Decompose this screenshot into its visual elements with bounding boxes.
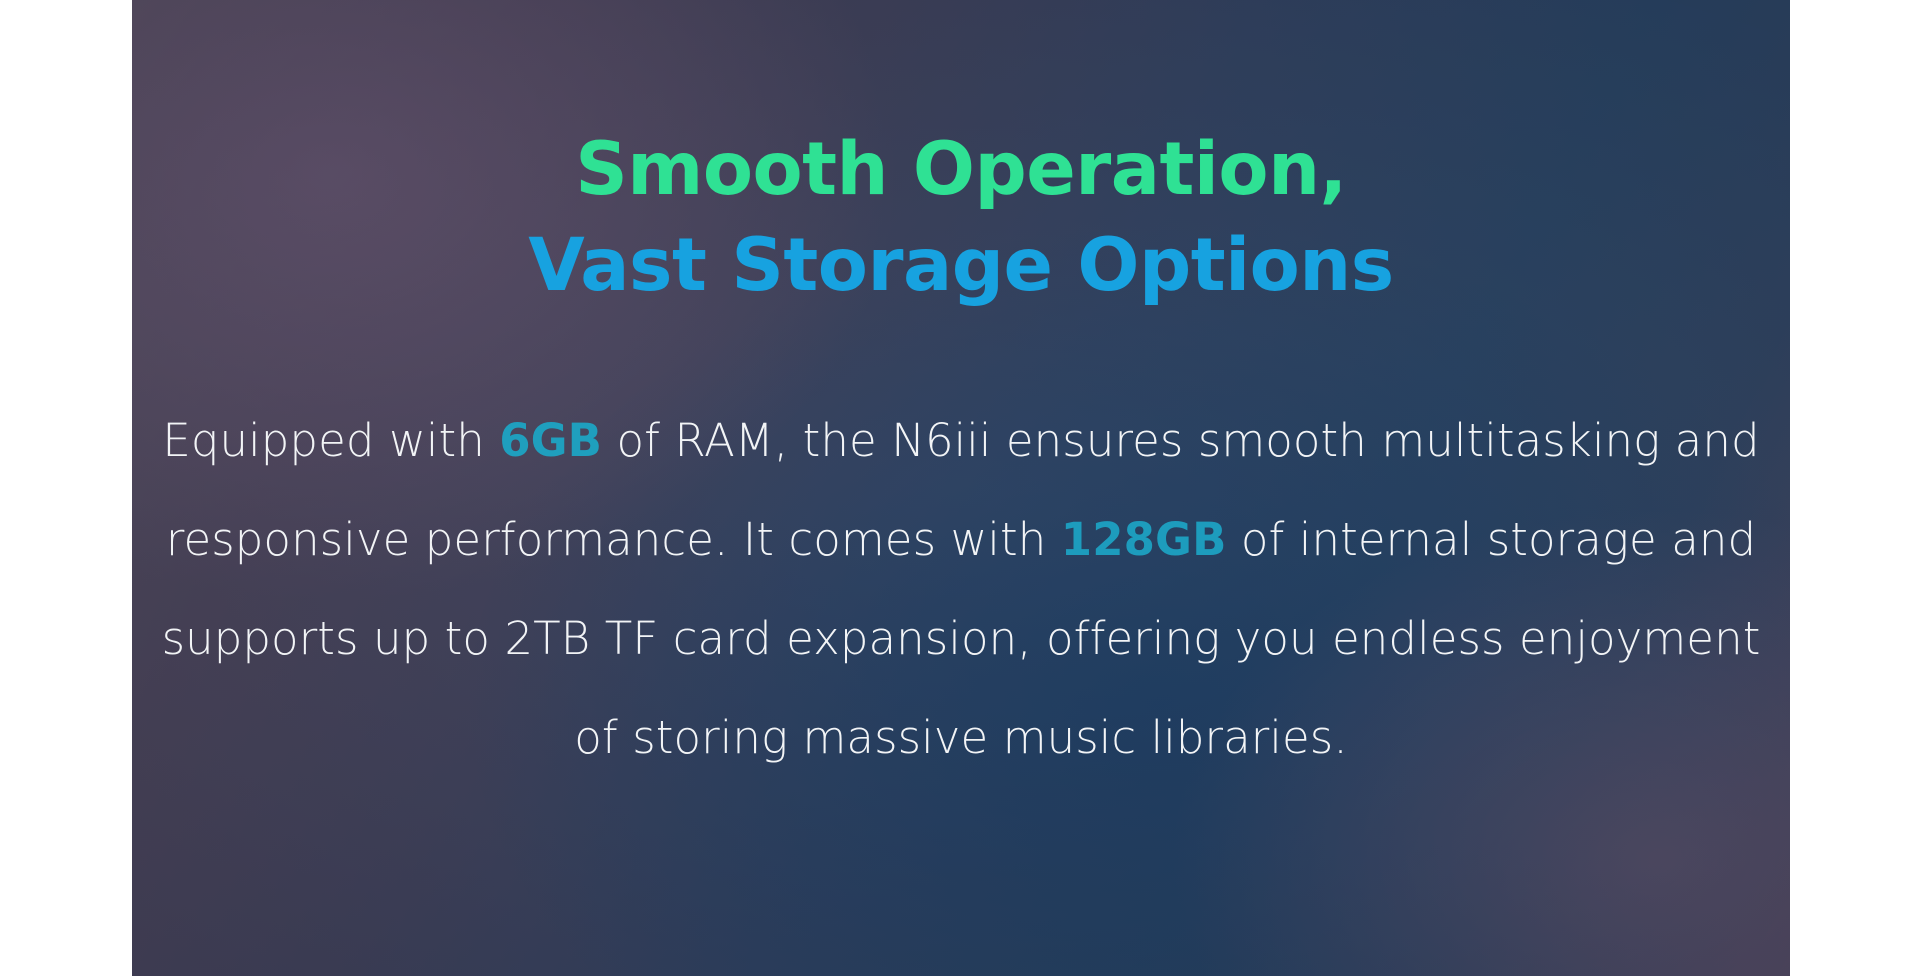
hero-description: Equipped with 6GB of RAM, the N6iii ensu… <box>151 391 1771 787</box>
storage-highlight: 128GB <box>1061 513 1227 566</box>
page-title: Smooth Operation, Vast Storage Options <box>528 122 1393 313</box>
hero-panel: Smooth Operation, Vast Storage Options E… <box>132 0 1790 976</box>
ram-highlight: 6GB <box>499 414 602 467</box>
hero-content: Smooth Operation, Vast Storage Options E… <box>132 0 1790 976</box>
headline-line-1: Smooth Operation, <box>528 122 1393 218</box>
description-segment-1: Equipped with <box>162 414 499 467</box>
page-root: Smooth Operation, Vast Storage Options E… <box>0 0 1920 976</box>
headline-line-2: Vast Storage Options <box>528 218 1393 314</box>
